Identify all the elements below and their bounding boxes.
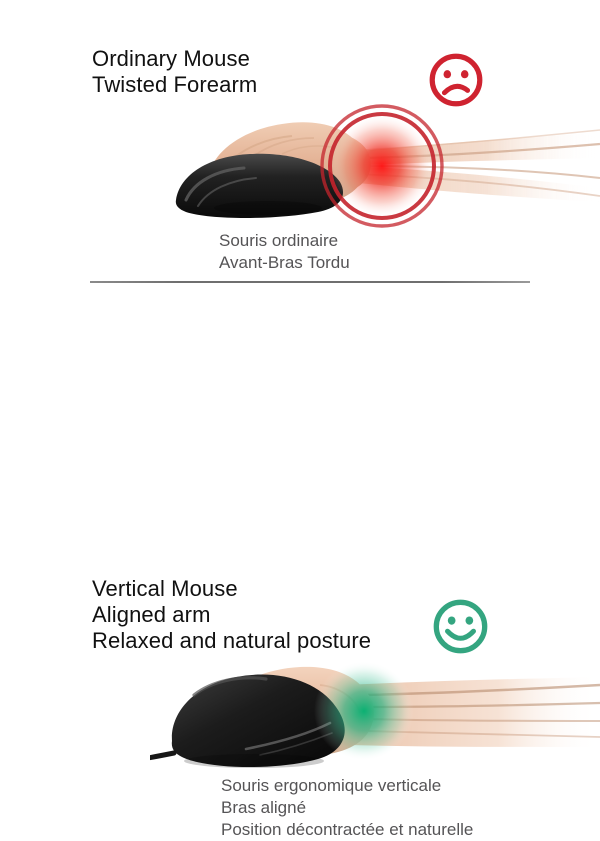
pain-indicator xyxy=(322,106,442,226)
ordinary-heading: Ordinary Mouse Twisted Forearm xyxy=(92,46,257,98)
vertical-heading: Vertical Mouse Aligned arm Relaxed and n… xyxy=(92,576,371,654)
sad-face-icon xyxy=(427,51,485,109)
mouse-cable xyxy=(150,753,174,759)
vertical-mouse-photo xyxy=(150,655,600,775)
panel-ordinary-mouse: Ordinary Mouse Twisted Forearm Souris or… xyxy=(0,0,600,282)
vertical-mouse-illustration xyxy=(150,655,600,775)
panel-vertical-mouse: Vertical Mouse Aligned arm Relaxed and n… xyxy=(0,283,600,600)
ordinary-mouse-photo xyxy=(150,104,600,229)
vertical-caption-french: Souris ergonomique verticale Bras aligné… xyxy=(221,775,473,841)
ordinary-caption-french: Souris ordinaire Avant-Bras Tordu xyxy=(219,230,350,274)
comfort-indicator xyxy=(314,661,414,761)
happy-face-icon xyxy=(431,597,490,656)
ordinary-mouse-illustration xyxy=(150,104,600,229)
infographic-page: Ordinary Mouse Twisted Forearm Souris or… xyxy=(0,0,600,600)
